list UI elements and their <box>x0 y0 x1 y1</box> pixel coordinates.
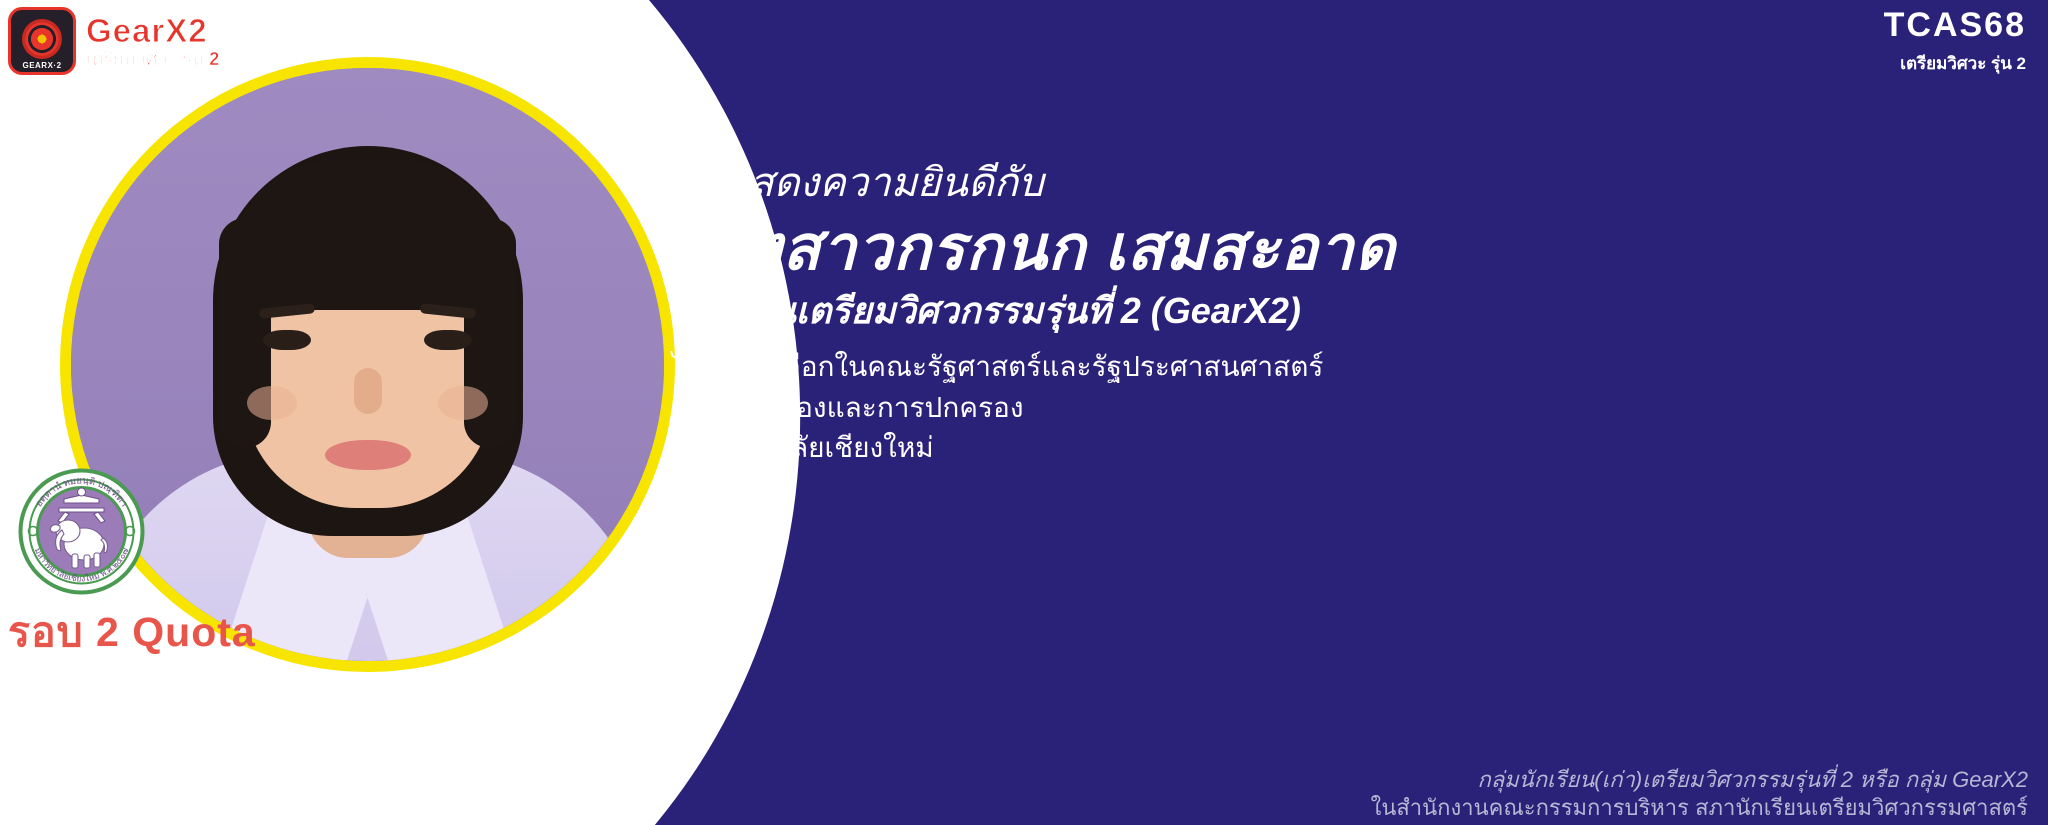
photo-cheek-right <box>438 386 488 420</box>
announcement-text: ขอแสดงความยินดีกับ นางสาวกรกนก เสมสะอาด … <box>672 158 2002 469</box>
brand-subtitle: เตรียมวิศวะ รุ่น 2 <box>86 50 219 68</box>
gear-glyph <box>25 22 59 56</box>
footer-line-1: กลุ่มนักเรียน(เก่า)เตรียมวิศวกรรมรุ่นที่… <box>1371 766 2028 794</box>
student-name: นางสาวกรกนก เสมสะอาด <box>672 212 2002 286</box>
cmu-elephant-seal-icon: อตฺตานํ ทมยนฺติ ปณฺฑิตา มหาวิทยาลัยเชียง… <box>18 468 145 595</box>
footer-credits: กลุ่มนักเรียน(เก่า)เตรียมวิศวกรรมรุ่นที่… <box>1371 766 2028 821</box>
brand-wordmark: GearX2 เตรียมวิศวะ รุ่น 2 <box>86 14 219 68</box>
gear-camera-icon: GEARX·2 <box>8 7 76 75</box>
admission-round-label: รอบ 2 Quota <box>8 600 256 665</box>
logo-badge-text: GEARX·2 <box>11 61 73 70</box>
photo-nose <box>354 368 382 414</box>
photo-eye-left <box>263 330 311 350</box>
photo-cheek-left <box>247 386 297 420</box>
brand-title: GearX2 <box>86 14 219 47</box>
brand-logo: GEARX·2 GearX2 เตรียมวิศวะ รุ่น 2 <box>8 7 219 75</box>
congratulations-line: ขอแสดงความยินดีกับ <box>672 158 2002 208</box>
tcas-subtitle: เตรียมวิศวะ รุ่น 2 <box>1884 50 2026 77</box>
tcas-header: TCAS68 เตรียมวิศวะ รุ่น 2 <box>1884 8 2026 77</box>
congratulations-banner: GEARX·2 GearX2 เตรียมวิศวะ รุ่น 2 TCAS68… <box>0 0 2048 825</box>
student-program: นักเรียนเตรียมวิศวกรรมรุ่นที่ 2 (GearX2) <box>672 288 2002 335</box>
acceptance-line-1: ได้รับคัดเลือกในคณะรัฐศาสตร์และรัฐประศาส… <box>672 347 2002 388</box>
photo-lips <box>325 440 411 470</box>
footer-line-2: ในสำนักงานคณะกรรมการบริหาร สภานักเรียนเต… <box>1371 794 2028 822</box>
tcas-title: TCAS68 <box>1884 8 2026 44</box>
photo-eye-right <box>424 330 472 350</box>
acceptance-line-2: ร.บ.การเมืองและการปกครอง <box>672 388 2002 429</box>
student-photo <box>71 68 664 661</box>
acceptance-line-3: มหาวิทยาลัยเชียงใหม่ <box>672 428 2002 469</box>
